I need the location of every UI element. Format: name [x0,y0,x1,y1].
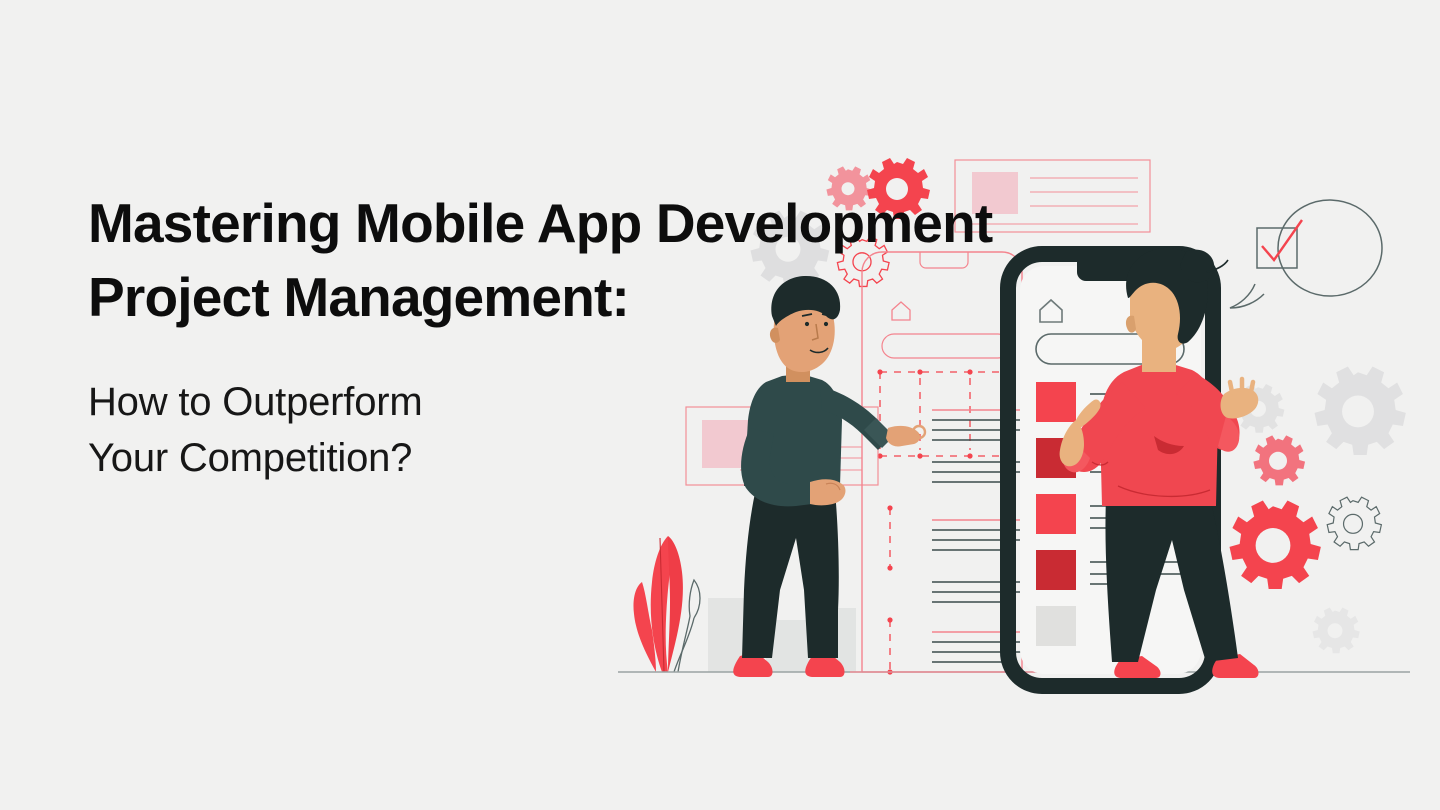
page-title-line-2: Project Management: [88,260,1088,334]
page-subtitle-line-2: Your Competition? [88,430,1088,486]
hero-banner: Mastering Mobile App Development Project… [0,0,1440,810]
gear-red-large-right [1230,501,1321,589]
list-item-thumb-3 [1036,494,1076,534]
check-icon [1262,220,1302,260]
list-item-thumb-4 [1036,550,1076,590]
plant-leaves [633,536,700,672]
gear-decorative-gray-right [1315,367,1406,455]
page-subtitle-line-1: How to Outperform [88,374,1088,430]
hero-text-block: Mastering Mobile App Development Project… [88,186,1088,486]
list-item-thumb-5 [1036,606,1076,646]
speech-bubble-checkmark [1230,200,1382,308]
gear-outline-gray-right [1327,497,1381,549]
page-title-line-1: Mastering Mobile App Development [88,186,1088,260]
right-person-hair-bun [1181,250,1215,283]
gear-pink-small-right [1253,435,1305,485]
gear-decorative-gray-bottom [1313,608,1360,654]
